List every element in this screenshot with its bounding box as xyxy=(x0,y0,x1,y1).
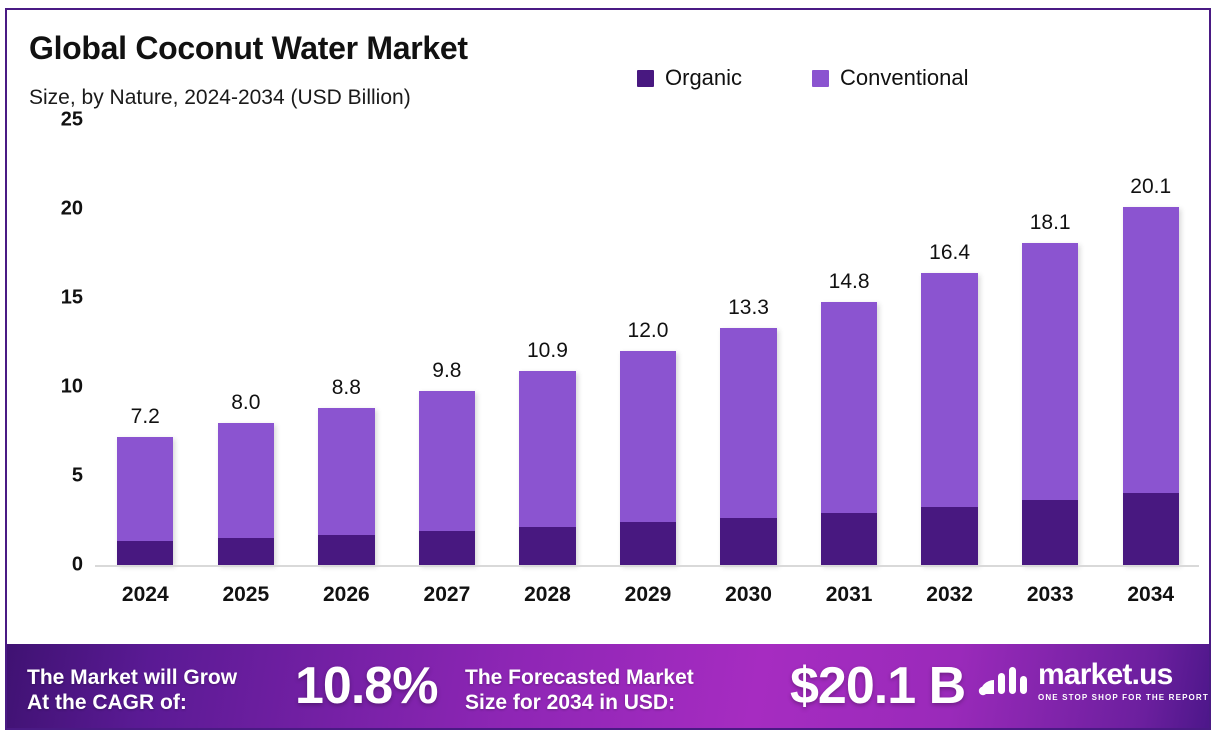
bar-group-2026[interactable]: 8.8 xyxy=(318,120,374,565)
y-axis-tick-15: 15 xyxy=(61,287,83,310)
bar-group-2034[interactable]: 20.1 xyxy=(1123,120,1179,565)
y-axis-tick-20: 20 xyxy=(61,198,83,221)
bar-segment-conventional[interactable] xyxy=(318,408,374,534)
bar-value-label: 8.0 xyxy=(231,391,260,415)
logo-tagline: ONE STOP SHOP FOR THE REPORTS xyxy=(1038,693,1211,702)
forecast-size-label-line2: Size for 2034 in USD: xyxy=(465,691,675,714)
legend-label-conventional: Conventional xyxy=(840,65,968,91)
chart-header: Global Coconut Water Market Size, by Nat… xyxy=(7,10,1209,120)
chart-subtitle: Size, by Nature, 2024-2034 (USD Billion) xyxy=(29,86,411,110)
x-axis-tick-2031: 2031 xyxy=(826,583,873,607)
bar-stack[interactable] xyxy=(419,391,475,565)
bar-stack[interactable] xyxy=(1123,207,1179,565)
bar-value-label: 7.2 xyxy=(131,405,160,429)
bar-stack[interactable] xyxy=(218,423,274,565)
market-us-logo[interactable]: market.us ONE STOP SHOP FOR THE REPORTS xyxy=(977,660,1211,702)
cagr-label-line2: At the CAGR of: xyxy=(27,691,187,714)
bar-group-2025[interactable]: 8.0 xyxy=(218,120,274,565)
y-axis: 0510152025 xyxy=(7,120,95,565)
forecast-size-value: $20.1 B xyxy=(790,656,965,716)
legend-label-organic: Organic xyxy=(665,65,742,91)
bar-segment-conventional[interactable] xyxy=(1123,207,1179,493)
bar-value-label: 12.0 xyxy=(628,319,669,343)
logo-name: market.us xyxy=(1038,660,1211,690)
bar-value-label: 9.8 xyxy=(432,359,461,383)
bar-segment-conventional[interactable] xyxy=(117,437,173,541)
chart-legend: Organic Conventional xyxy=(637,65,968,91)
bar-segment-organic[interactable] xyxy=(218,538,274,565)
bar-value-label: 10.9 xyxy=(527,339,568,363)
bar-segment-conventional[interactable] xyxy=(921,273,977,507)
bar-group-2031[interactable]: 14.8 xyxy=(821,120,877,565)
bar-value-label: 8.8 xyxy=(332,376,361,400)
bar-segment-conventional[interactable] xyxy=(218,423,274,539)
bar-segment-conventional[interactable] xyxy=(519,371,575,527)
legend-item-conventional[interactable]: Conventional xyxy=(812,65,968,91)
page-title: Global Coconut Water Market xyxy=(29,30,468,67)
bar-stack[interactable] xyxy=(921,273,977,565)
y-axis-tick-0: 0 xyxy=(72,554,83,577)
bar-segment-organic[interactable] xyxy=(921,507,977,565)
bar-stack[interactable] xyxy=(720,328,776,565)
bar-segment-conventional[interactable] xyxy=(821,302,877,513)
x-axis-tick-2030: 2030 xyxy=(725,583,772,607)
forecast-size-label-line1: The Forecasted Market xyxy=(465,666,694,689)
bar-value-label: 18.1 xyxy=(1030,211,1071,235)
bar-segment-organic[interactable] xyxy=(620,522,676,565)
x-axis-tick-2027: 2027 xyxy=(424,583,471,607)
footer-banner: The Market will Grow At the CAGR of: 10.… xyxy=(5,644,1211,730)
x-axis-tick-2029: 2029 xyxy=(625,583,672,607)
bar-stack[interactable] xyxy=(620,351,676,565)
legend-item-organic[interactable]: Organic xyxy=(637,65,742,91)
cagr-label-line1: The Market will Grow xyxy=(27,666,237,689)
bar-group-2030[interactable]: 13.3 xyxy=(720,120,776,565)
bar-segment-organic[interactable] xyxy=(117,541,173,565)
bar-stack[interactable] xyxy=(821,302,877,565)
cagr-label: The Market will Grow At the CAGR of: xyxy=(27,666,237,716)
bar-segment-conventional[interactable] xyxy=(1022,243,1078,500)
y-axis-tick-10: 10 xyxy=(61,376,83,399)
bar-segment-organic[interactable] xyxy=(1123,493,1179,565)
bar-value-label: 14.8 xyxy=(829,270,870,294)
forecast-size-label: The Forecasted Market Size for 2034 in U… xyxy=(465,666,694,716)
bar-group-2029[interactable]: 12.0 xyxy=(620,120,676,565)
bar-value-label: 13.3 xyxy=(728,296,769,320)
bar-stack[interactable] xyxy=(519,371,575,565)
bar-value-label: 20.1 xyxy=(1130,175,1171,199)
x-axis: 2024202520262027202820292030203120322033… xyxy=(95,575,1199,621)
x-axis-tick-2026: 2026 xyxy=(323,583,370,607)
chart-card: Global Coconut Water Market Size, by Nat… xyxy=(5,8,1211,730)
bar-segment-organic[interactable] xyxy=(1022,500,1078,565)
bar-stack[interactable] xyxy=(117,437,173,565)
x-axis-tick-2024: 2024 xyxy=(122,583,169,607)
bar-segment-organic[interactable] xyxy=(519,527,575,565)
x-axis-tick-2032: 2032 xyxy=(926,583,973,607)
bar-group-2027[interactable]: 9.8 xyxy=(419,120,475,565)
legend-swatch-conventional xyxy=(812,70,829,87)
bar-group-2032[interactable]: 16.4 xyxy=(921,120,977,565)
bar-segment-organic[interactable] xyxy=(720,518,776,565)
x-axis-tick-2033: 2033 xyxy=(1027,583,1074,607)
bar-stack[interactable] xyxy=(1022,243,1078,565)
bar-group-2024[interactable]: 7.2 xyxy=(117,120,173,565)
bar-group-2028[interactable]: 10.9 xyxy=(519,120,575,565)
logo-text: market.us ONE STOP SHOP FOR THE REPORTS xyxy=(1038,660,1211,702)
bar-segment-conventional[interactable] xyxy=(419,391,475,532)
chart-plot-area: 0510152025 7.28.08.89.810.912.013.314.81… xyxy=(7,120,1209,625)
logo-mark-icon xyxy=(977,664,1029,698)
bar-segment-organic[interactable] xyxy=(318,535,374,565)
bar-value-label: 16.4 xyxy=(929,241,970,265)
y-axis-tick-5: 5 xyxy=(72,465,83,488)
x-axis-tick-2025: 2025 xyxy=(222,583,269,607)
bars-container: 7.28.08.89.810.912.013.314.816.418.120.1 xyxy=(95,120,1199,565)
bar-segment-organic[interactable] xyxy=(821,513,877,566)
cagr-value: 10.8% xyxy=(295,656,437,716)
axis-baseline xyxy=(95,565,1199,567)
bar-segment-conventional[interactable] xyxy=(620,351,676,522)
x-axis-tick-2034: 2034 xyxy=(1127,583,1174,607)
legend-swatch-organic xyxy=(637,70,654,87)
bar-segment-conventional[interactable] xyxy=(720,328,776,518)
y-axis-tick-25: 25 xyxy=(61,109,83,132)
bar-group-2033[interactable]: 18.1 xyxy=(1022,120,1078,565)
bar-stack[interactable] xyxy=(318,408,374,565)
x-axis-tick-2028: 2028 xyxy=(524,583,571,607)
bar-segment-organic[interactable] xyxy=(419,531,475,565)
